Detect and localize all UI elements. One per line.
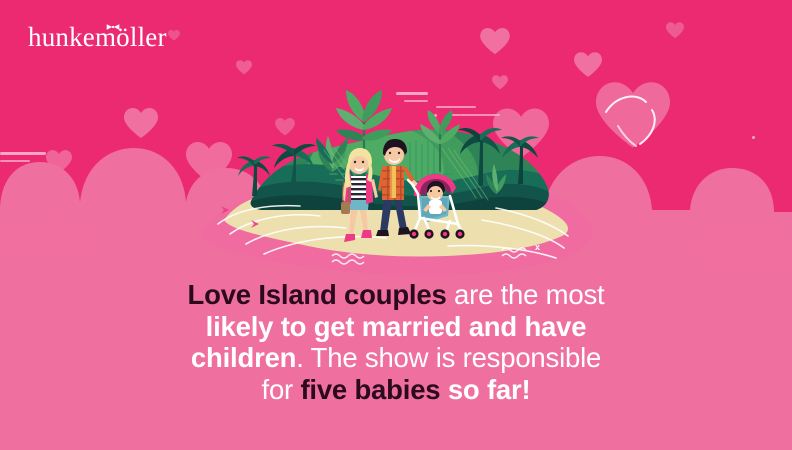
headline-line-2: likely to get married and have [96, 311, 696, 343]
dot-decor [752, 136, 755, 139]
brand-logo-text: hunkemöller [28, 24, 167, 51]
headline: Love Island couples are the most likely … [96, 279, 696, 405]
headline-seg: are the most [447, 279, 605, 310]
heart-icon [124, 108, 158, 139]
heart-icon [666, 22, 684, 39]
brand-logo[interactable]: hunkemöller [28, 24, 167, 51]
headline-line-1: Love Island couples are the most [96, 279, 696, 311]
heart-icon [480, 28, 510, 55]
headline-seg: children [191, 342, 296, 373]
headline-line-3: children. The show is responsible [96, 342, 696, 374]
heart-icon [574, 52, 602, 78]
headline-seg: so far! [440, 374, 530, 405]
heart-icon [168, 30, 180, 41]
headline-seg: for [262, 374, 301, 405]
headline-seg: five babies [300, 374, 440, 405]
headline-seg: Love Island couples [188, 279, 447, 310]
sparkle-mark: x [535, 243, 540, 252]
headline-seg: likely to get married and have [206, 311, 587, 342]
headline-seg: . The show is responsible [296, 342, 601, 373]
poster-canvas: x hunkemöller Love Island couples are th… [0, 0, 792, 450]
bow-icon [106, 23, 120, 31]
heart-icon [236, 60, 252, 75]
headline-line-4: for five babies so far! [96, 374, 696, 406]
